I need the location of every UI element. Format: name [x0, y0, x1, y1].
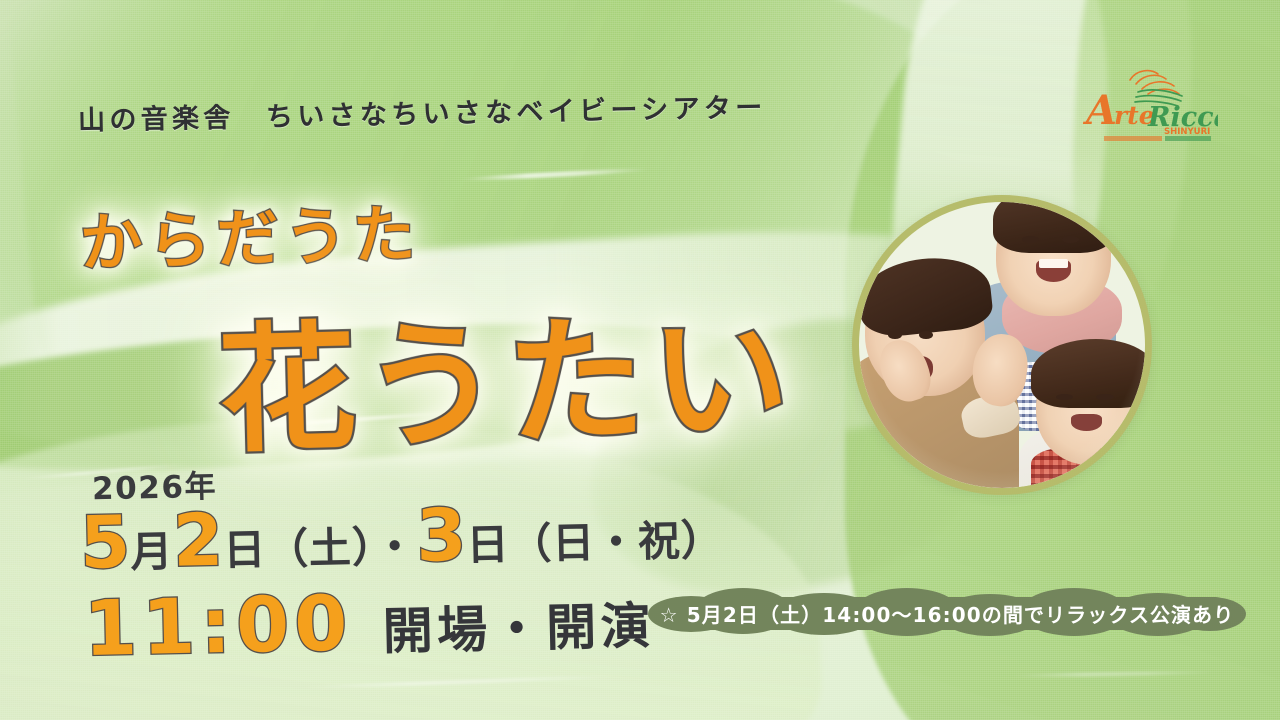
- time-value: 11:00: [83, 585, 353, 667]
- main-title-hanautai: 花うたい: [216, 265, 798, 479]
- date-day2-number: 3: [416, 499, 468, 572]
- photo-edge-fade: [859, 202, 1145, 488]
- subtitle-karadauta: からだうた: [79, 183, 422, 282]
- artericca-logo[interactable]: A rte Ricca SHINYURI: [1078, 62, 1218, 144]
- date-month-number: 5: [79, 506, 131, 579]
- relax-performance-banner: ☆ 5月2日（土）14:00〜16:00の間でリラックス公演あり: [648, 588, 1246, 638]
- banner-text: ☆ 5月2日（土）14:00〜16:00の間でリラックス公演あり: [648, 588, 1246, 638]
- poster-canvas: 山の音楽舎 ちいさなちいさなベイビーシアター A rte Ricca SHINY…: [0, 0, 1280, 720]
- header-series-line: 山の音楽舎 ちいさなちいさなベイビーシアター: [78, 85, 767, 137]
- brush-highlight-streak: [1010, 670, 1220, 678]
- babies-photo: [852, 195, 1152, 495]
- date-day1-label: 日（土）・: [223, 526, 417, 572]
- schedule-date-line: 5 月 2 日（土）・ 3 日（日・祝）: [79, 493, 724, 578]
- date-day2-label: 日（日・祝）: [466, 519, 724, 566]
- time-label: 開場・開演: [382, 601, 655, 657]
- date-day1-number: 2: [172, 504, 224, 577]
- svg-text:SHINYURI: SHINYURI: [1164, 127, 1210, 137]
- brush-highlight-streak: [460, 167, 650, 182]
- svg-text:A: A: [1082, 87, 1117, 134]
- schedule-time-line: 11:00 開場・開演: [83, 579, 655, 667]
- brush-highlight-streak: [300, 674, 620, 689]
- date-month-label: 月: [130, 531, 174, 574]
- photo-inner: [859, 202, 1145, 488]
